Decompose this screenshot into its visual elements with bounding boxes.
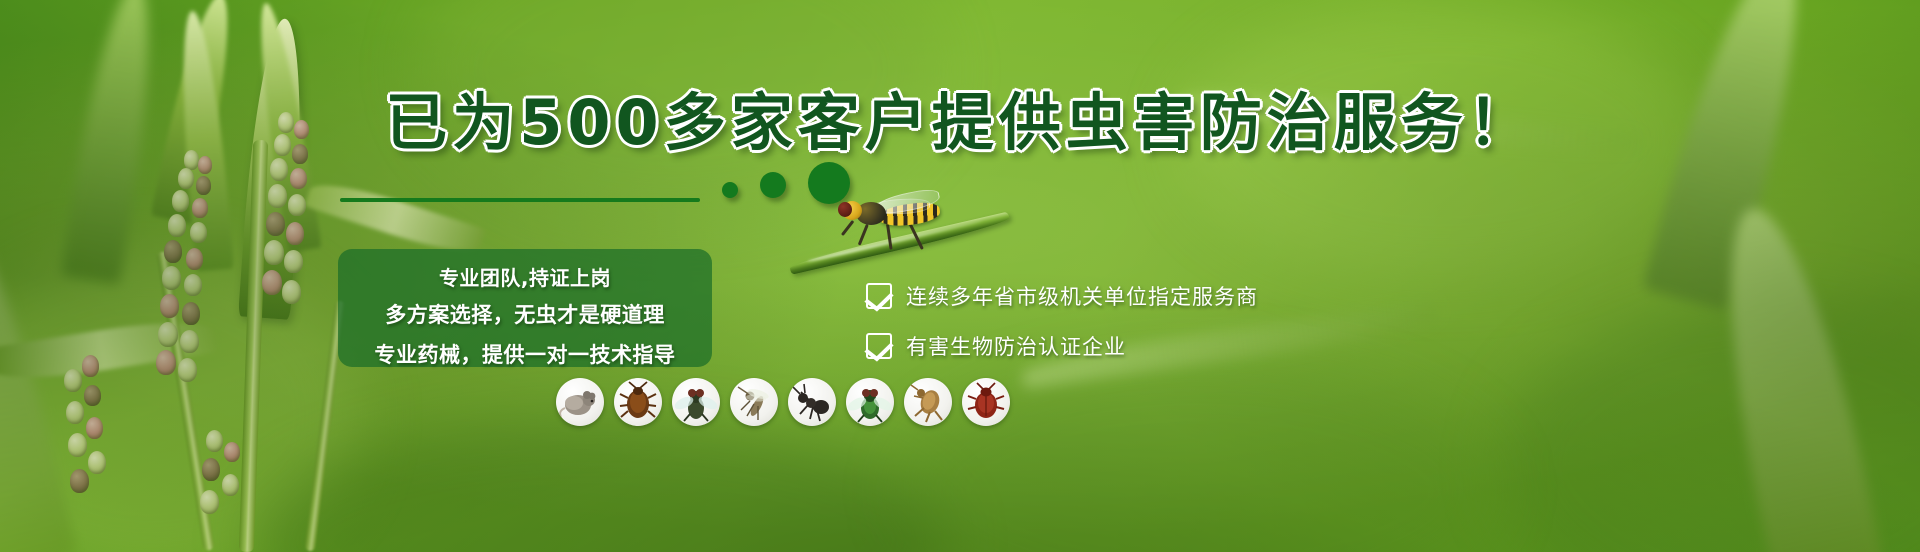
- panel-line-1: 专业团队,持证上岗: [356, 261, 694, 295]
- fly-leg: [841, 220, 854, 236]
- certification-list: 连续多年省市级机关单位指定服务商 有害生物防治认证企业: [866, 272, 1426, 372]
- mouse-icon[interactable]: [556, 378, 604, 426]
- fly-eye: [838, 202, 852, 217]
- decorative-dot-small: [722, 182, 738, 198]
- decorative-rule: [340, 198, 700, 202]
- fly-icon[interactable]: [672, 378, 720, 426]
- list-item: 连续多年省市级机关单位指定服务商: [866, 272, 1426, 320]
- pest-icon-row: [556, 378, 1010, 426]
- checkbox-checked-icon: [866, 283, 892, 309]
- mosquito-icon[interactable]: [730, 378, 778, 426]
- flea-icon[interactable]: [904, 378, 952, 426]
- list-item: 有害生物防治认证企业: [866, 322, 1426, 370]
- decorative-dot-medium: [760, 172, 786, 198]
- list-item-label: 有害生物防治认证企业: [906, 331, 1126, 361]
- panel-line-3: 专业药械，提供一对一技术指导: [356, 335, 694, 375]
- selling-points-panel: 专业团队,持证上岗 多方案选择，无虫才是硬道理 专业药械，提供一对一技术指导: [338, 249, 712, 367]
- cockroach-icon[interactable]: [614, 378, 662, 426]
- ant-icon[interactable]: [788, 378, 836, 426]
- panel-line-2: 多方案选择，无虫才是硬道理: [356, 295, 694, 335]
- bedbug-icon[interactable]: [962, 378, 1010, 426]
- page-title: 已为500多家客户提供虫害防治服务！: [0, 72, 1920, 162]
- list-item-label: 连续多年省市级机关单位指定服务商: [906, 281, 1258, 311]
- fly-leg: [858, 224, 869, 246]
- pest-control-promo-banner: 已为500多家客户提供虫害防治服务！ 专业团队,持证上岗 多方案选择，无虫才是硬…: [0, 0, 1920, 552]
- checkbox-checked-icon: [866, 333, 892, 359]
- green-fly-icon[interactable]: [846, 378, 894, 426]
